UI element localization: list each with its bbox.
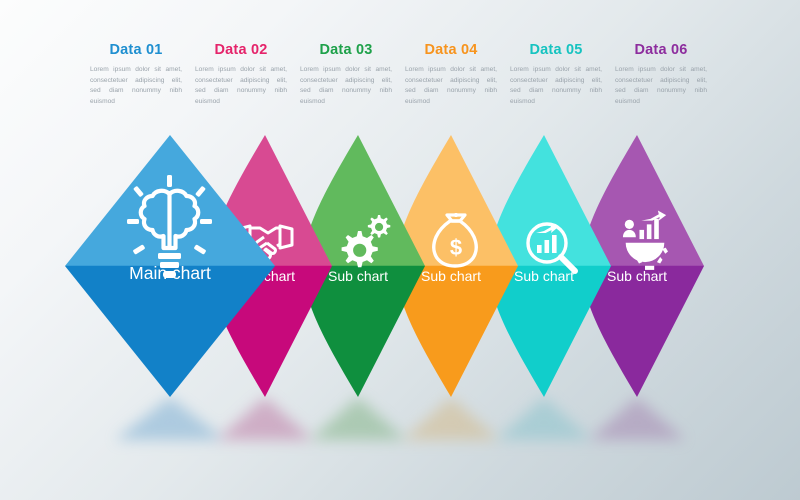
- diamond-chain: Sub chart: [0, 0, 800, 500]
- infographic-canvas: Data 01 Lorem ipsum dolor sit amet, cons…: [0, 0, 800, 500]
- node-1-shape[interactable]: [65, 135, 285, 397]
- node-1[interactable]: Main chart: [65, 135, 285, 397]
